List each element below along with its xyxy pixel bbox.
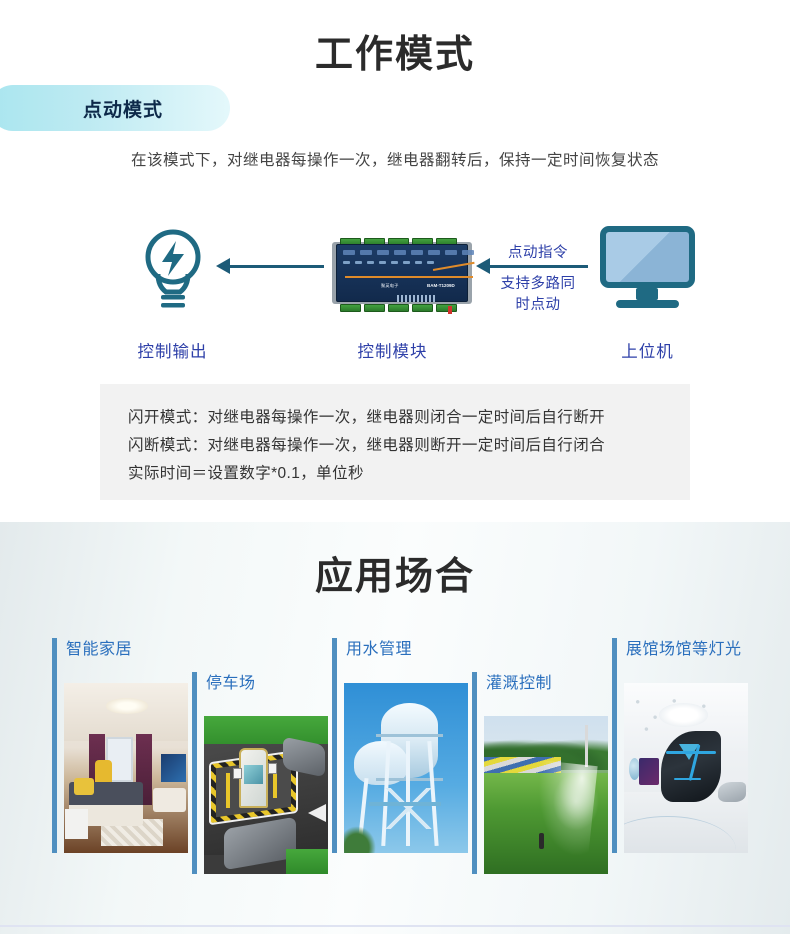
card-accent-bar — [332, 638, 337, 853]
water-tower-scene — [344, 683, 468, 853]
bottom-divider — [0, 925, 790, 927]
card-label: 智能家居 — [66, 635, 132, 659]
signage — [268, 763, 277, 774]
led-indicator — [415, 261, 422, 264]
card-photo-smart-home — [64, 683, 188, 853]
diagram-label-output: 控制输出 — [110, 338, 235, 362]
road-arrow-marking — [308, 804, 326, 822]
relay-chip — [343, 250, 355, 255]
cross-bracing — [381, 788, 436, 829]
exhibition-hall-scene — [624, 683, 748, 853]
arrow-head-left-output — [216, 258, 230, 274]
mode-badge-label: 点动模式 — [0, 95, 230, 122]
arrow-label-multichannel-line2: 时点动 — [478, 295, 598, 316]
arrow-host-to-module — [488, 265, 588, 268]
relay-chip — [394, 250, 406, 255]
signage — [233, 768, 242, 779]
terminal-block — [364, 304, 385, 312]
terminal-block — [388, 304, 409, 312]
power-led — [448, 306, 452, 314]
board-logo-text: 聚英电子 — [381, 283, 399, 289]
applications-title: 应用场合 — [0, 558, 790, 596]
relay-chip — [445, 250, 457, 255]
board-model-text: BAM-T1209D — [427, 283, 455, 288]
nightstand — [65, 809, 87, 840]
grass-area — [286, 849, 328, 874]
card-accent-bar — [52, 638, 57, 853]
arrow-label-multichannel-line1: 支持多路同 — [478, 274, 598, 295]
card-accent-bar — [472, 672, 477, 874]
host-computer-monitor-icon — [600, 226, 695, 312]
terminal-row-bottom — [340, 304, 457, 312]
applications-section: 应用场合 智能家居 — [0, 522, 790, 934]
work-mode-diagram: 聚英电子 BAM-T1209D 点动指令 支持多路同 时点动 — [0, 210, 790, 370]
card-label: 展馆场馆等灯光 — [626, 635, 742, 659]
relay-chip — [377, 250, 389, 255]
mode-info-box: 闪开模式：对继电器每操作一次，继电器则闭合一定时间后自行断开 闪断模式：对继电器… — [100, 384, 690, 500]
tank-ring — [376, 734, 443, 737]
card-photo-exhibition — [624, 683, 748, 853]
television — [161, 754, 186, 781]
foliage — [344, 826, 376, 853]
barrier-gate — [226, 773, 230, 808]
diagram-label-module: 控制模块 — [330, 338, 455, 362]
monitor-neck — [636, 288, 658, 300]
led-indicator — [403, 261, 410, 264]
card-photo-irrigation — [484, 716, 608, 874]
terminal-block — [340, 304, 361, 312]
relay-module-board: 聚英电子 BAM-T1209D — [330, 234, 474, 314]
work-mode-section: 工作模式 点动模式 在该模式下，对继电器每操作一次，继电器翻转后，保持一定时间恢… — [0, 0, 790, 522]
relay-chip — [462, 250, 474, 255]
product-marketing-page: 工作模式 点动模式 在该模式下，对继电器每操作一次，继电器翻转后，保持一定时间恢… — [0, 0, 790, 934]
mode-description: 在该模式下，对继电器每操作一次，继电器翻转后，保持一定时间恢复状态 — [0, 148, 790, 170]
display-screen — [639, 758, 659, 785]
diagram-label-host: 上位机 — [585, 338, 710, 362]
chip-row — [343, 250, 474, 255]
neon-strip — [674, 778, 701, 780]
led-indicator — [343, 261, 350, 264]
card-label: 灌溉控制 — [486, 669, 552, 693]
led-indicator — [355, 261, 362, 264]
mode-info-line: 闪断模式：对继电器每操作一次，继电器则断开一定时间后自行闭合 — [128, 432, 690, 460]
terminal-block — [436, 304, 457, 312]
mode-badge: 点动模式 — [0, 85, 230, 131]
led-indicator — [367, 261, 374, 264]
arrow-module-to-output — [228, 265, 324, 268]
card-label: 用水管理 — [346, 635, 412, 659]
pillow — [74, 778, 94, 795]
arrow-label-multichannel: 支持多路同 时点动 — [478, 274, 598, 316]
card-accent-bar — [612, 638, 617, 853]
chip-row-small — [343, 261, 434, 264]
ceiling-light — [106, 698, 148, 713]
mode-info-list: 闪开模式：对继电器每操作一次，继电器则闭合一定时间后自行断开 闪断模式：对继电器… — [100, 384, 690, 488]
pin-header — [397, 295, 437, 302]
led-indicator — [391, 261, 398, 264]
toll-booth — [239, 748, 269, 808]
relay-chip — [360, 250, 372, 255]
app-card-smart-home[interactable]: 智能家居 — [52, 638, 184, 853]
board-trace — [345, 276, 473, 278]
relay-chip — [428, 250, 440, 255]
app-card-water[interactable]: 用水管理 — [332, 638, 464, 853]
card-accent-bar — [192, 672, 197, 874]
card-photo-parking — [204, 716, 328, 874]
irrigation-scene — [484, 716, 608, 874]
monitor-frame — [600, 226, 695, 288]
work-mode-title: 工作模式 — [0, 36, 790, 74]
bedroom-scene — [64, 683, 188, 853]
parking-scene — [204, 716, 328, 874]
card-label: 停车场 — [206, 669, 256, 693]
app-card-exhibition-lighting[interactable]: 展馆场馆等灯光 — [612, 638, 760, 853]
sofa — [153, 788, 185, 812]
furniture — [718, 782, 745, 802]
card-photo-water — [344, 683, 468, 853]
led-indicator — [379, 261, 386, 264]
mode-info-line: 闪开模式：对继电器每操作一次，继电器则闭合一定时间后自行断开 — [128, 404, 690, 432]
sprinkler-head — [539, 833, 544, 849]
monitor-base — [616, 300, 679, 308]
arrow-label-command: 点动指令 — [478, 243, 598, 264]
lightbulb-icon — [138, 224, 208, 314]
catwalk-rail — [369, 802, 441, 806]
app-card-irrigation[interactable]: 灌溉控制 — [472, 672, 604, 874]
app-card-parking[interactable]: 停车场 — [192, 672, 324, 874]
board-pcb: 聚英电子 BAM-T1209D — [336, 244, 468, 302]
neon-strip — [666, 751, 716, 754]
led-indicator — [427, 261, 434, 264]
mode-info-line: 实际时间＝设置数字*0.1，单位秒 — [128, 460, 690, 488]
relay-chip — [411, 250, 423, 255]
booth-window — [244, 765, 264, 784]
terminal-block — [412, 304, 433, 312]
light-pole — [585, 725, 588, 766]
